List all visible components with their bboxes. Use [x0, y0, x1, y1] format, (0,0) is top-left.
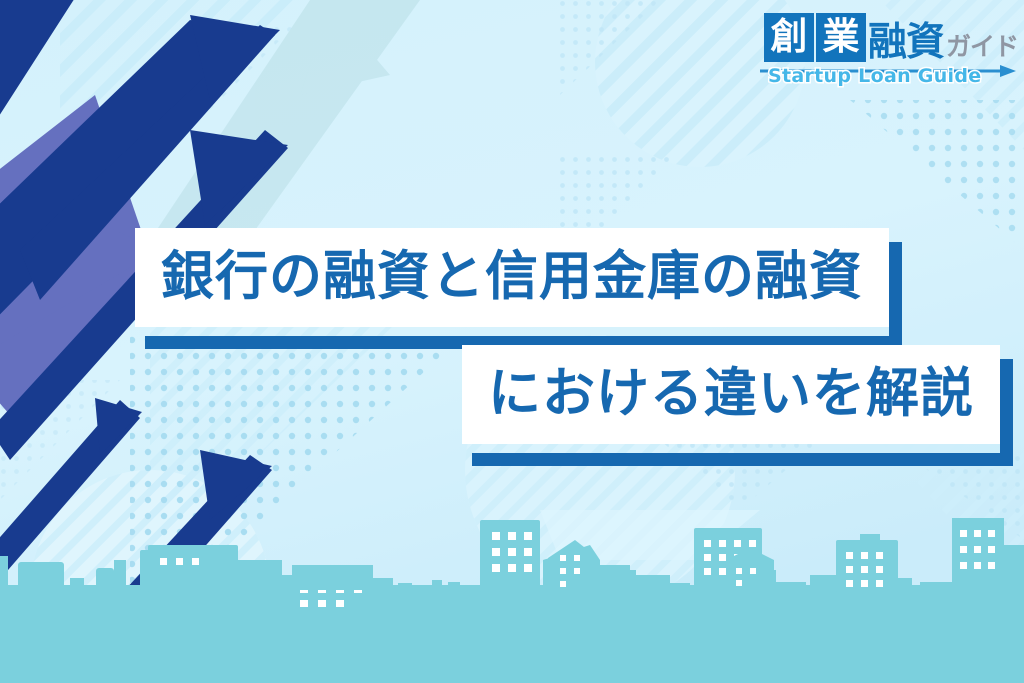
- logo-plain-chars: 融資: [868, 23, 944, 62]
- logo-kanji-row: 創 業 融資 ガイド: [756, 14, 1018, 62]
- headline-line-1-row: 銀行の融資と信用金庫の融資: [0, 228, 1024, 327]
- poster-canvas: 創 業 融資 ガイド Startup Loan Guide 銀行の融資と信用金庫…: [0, 0, 1024, 683]
- logo-subtitle-text: Startup Loan Guide: [768, 65, 981, 87]
- headline-line-2: における違いを解説: [462, 345, 1000, 444]
- logo-katakana-suffix: ガイド: [946, 34, 1018, 62]
- headline-accent-bar-right-2: [1000, 359, 1013, 456]
- headline-accent-bar-right-1: [889, 242, 902, 339]
- logo-subtitle: Startup Loan Guide: [756, 65, 1018, 87]
- logo-boxed-char-2: 業: [816, 13, 866, 62]
- logo-boxed-char-1: 創: [764, 13, 814, 62]
- headline-line-1: 銀行の融資と信用金庫の融資: [135, 228, 889, 327]
- headline-line-2-row: における違いを解説: [0, 345, 1024, 444]
- headline-accent-bar-under-2: [472, 453, 1013, 466]
- site-logo[interactable]: 創 業 融資 ガイド Startup Loan Guide: [756, 14, 1018, 98]
- headline-block: 銀行の融資と信用金庫の融資 における違いを解説: [0, 228, 1024, 444]
- headline-band-2: における違いを解説: [462, 345, 1000, 444]
- headline-band-1: 銀行の融資と信用金庫の融資: [135, 228, 889, 327]
